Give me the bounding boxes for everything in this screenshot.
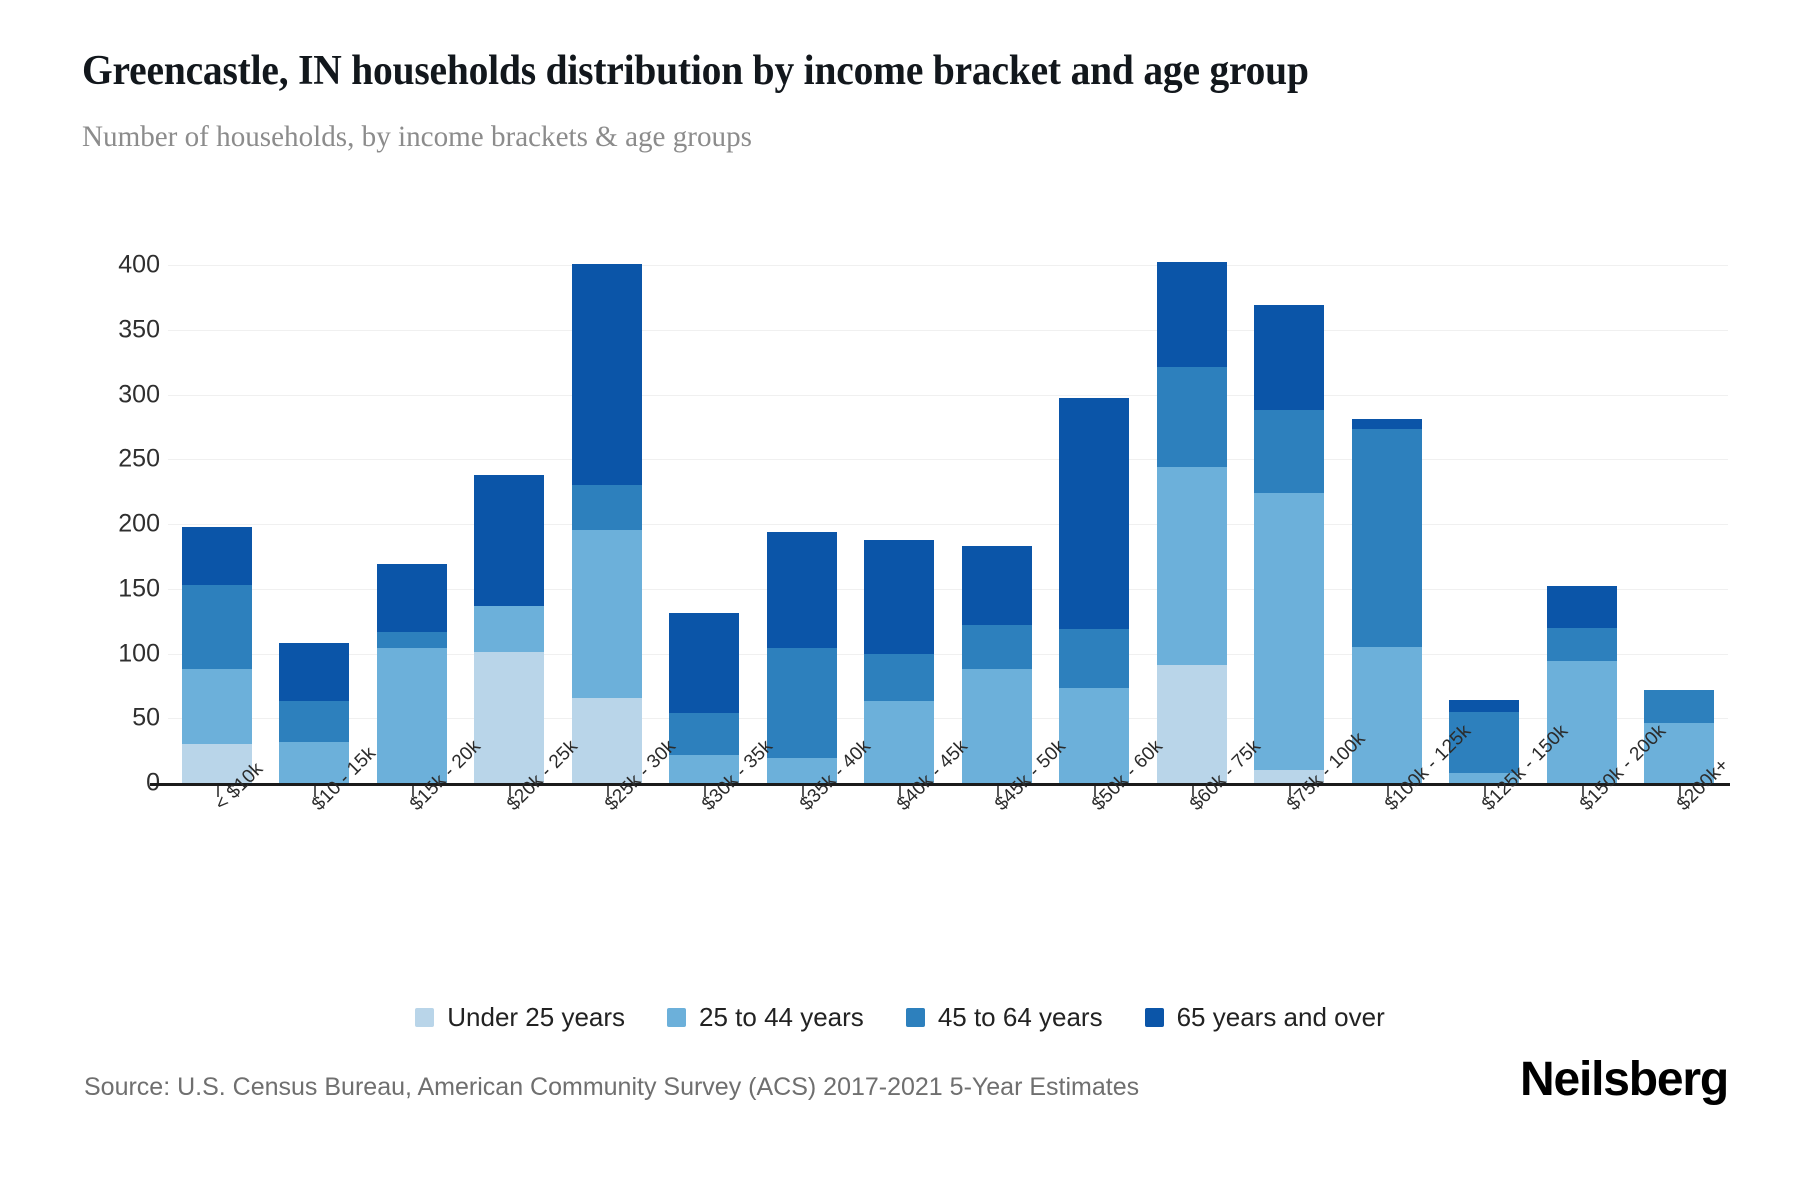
bar-stack[interactable] (669, 613, 739, 783)
legend-swatch-icon (1145, 1008, 1164, 1027)
bar-segment-3[interactable] (572, 485, 642, 530)
legend-label: Under 25 years (447, 1002, 625, 1033)
bar-segment-3[interactable] (767, 648, 837, 758)
bar-segment-4[interactable] (1157, 262, 1227, 367)
bar-stack[interactable] (1547, 586, 1617, 783)
y-tick-label: 50 (50, 704, 160, 733)
bar-stack[interactable] (474, 475, 544, 783)
bar-segment-3[interactable] (1059, 629, 1129, 689)
bars-layer (168, 265, 1728, 783)
bar-segment-2[interactable] (962, 669, 1032, 783)
bar-segment-2[interactable] (474, 606, 544, 653)
bar-segment-2[interactable] (182, 669, 252, 744)
y-tick-label: 300 (50, 380, 160, 409)
y-tick-label: 100 (50, 639, 160, 668)
source-note: Source: U.S. Census Bureau, American Com… (84, 1073, 1139, 1102)
y-tick-label: 250 (50, 445, 160, 474)
bar-segment-3[interactable] (962, 625, 1032, 669)
chart-page: Greencastle, IN households distribution … (0, 0, 1800, 1200)
chart-legend: Under 25 years25 to 44 years45 to 64 yea… (0, 1002, 1800, 1033)
y-tick-label: 350 (50, 315, 160, 344)
bar-segment-4[interactable] (962, 546, 1032, 625)
legend-item[interactable]: Under 25 years (415, 1002, 625, 1033)
bar-segment-2[interactable] (377, 648, 447, 783)
bar-segment-2[interactable] (1157, 467, 1227, 665)
bar-segment-1[interactable] (1157, 665, 1227, 783)
bar-stack[interactable] (864, 540, 934, 783)
bar-stack[interactable] (182, 527, 252, 783)
legend-label: 45 to 64 years (938, 1002, 1103, 1033)
y-tick-label: 400 (50, 251, 160, 280)
bar-segment-4[interactable] (1059, 398, 1129, 629)
bar-stack[interactable] (279, 643, 349, 783)
legend-label: 25 to 44 years (699, 1002, 864, 1033)
bar-segment-4[interactable] (572, 264, 642, 485)
bar-segment-3[interactable] (1254, 410, 1324, 493)
legend-item[interactable]: 25 to 44 years (667, 1002, 864, 1033)
y-tick-label: 200 (50, 510, 160, 539)
legend-item[interactable]: 45 to 64 years (906, 1002, 1103, 1033)
bar-stack[interactable] (767, 532, 837, 783)
bar-segment-3[interactable] (279, 701, 349, 741)
bar-segment-4[interactable] (767, 532, 837, 649)
bar-segment-4[interactable] (279, 643, 349, 701)
bar-stack[interactable] (1352, 419, 1422, 783)
bar-segment-3[interactable] (669, 713, 739, 754)
bar-segment-3[interactable] (182, 585, 252, 669)
neilsberg-logo: Neilsberg (1520, 1052, 1728, 1107)
bar-segment-3[interactable] (1352, 429, 1422, 647)
bar-segment-4[interactable] (182, 527, 252, 585)
bar-segment-4[interactable] (1449, 700, 1519, 712)
bar-segment-4[interactable] (864, 540, 934, 654)
bar-stack[interactable] (572, 264, 642, 783)
legend-swatch-icon (415, 1008, 434, 1027)
y-tick-label: 150 (50, 574, 160, 603)
bar-segment-3[interactable] (1157, 367, 1227, 467)
bar-segment-4[interactable] (474, 475, 544, 606)
bar-segment-4[interactable] (1547, 586, 1617, 627)
bar-stack[interactable] (962, 546, 1032, 783)
bar-segment-2[interactable] (1352, 647, 1422, 783)
bar-segment-1[interactable] (474, 652, 544, 783)
bar-segment-3[interactable] (1547, 628, 1617, 662)
legend-item[interactable]: 65 years and over (1145, 1002, 1385, 1033)
bar-stack[interactable] (377, 564, 447, 783)
bar-segment-4[interactable] (377, 564, 447, 631)
x-axis-labels: < $10k$10 - 15k$15k - 20k$20k - 25k$25k … (168, 800, 1728, 930)
legend-label: 65 years and over (1177, 1002, 1385, 1033)
bar-segment-2[interactable] (572, 530, 642, 697)
bar-stack[interactable] (1254, 305, 1324, 783)
bar-segment-4[interactable] (669, 613, 739, 713)
bar-stack[interactable] (1157, 262, 1227, 783)
bar-segment-4[interactable] (1352, 419, 1422, 429)
bar-stack[interactable] (1059, 398, 1129, 783)
legend-swatch-icon (906, 1008, 925, 1027)
y-tick-label: 0 (50, 769, 160, 798)
bar-segment-2[interactable] (1254, 493, 1324, 770)
bar-segment-3[interactable] (864, 654, 934, 702)
legend-swatch-icon (667, 1008, 686, 1027)
bar-segment-4[interactable] (1254, 305, 1324, 410)
bar-segment-3[interactable] (1644, 690, 1714, 724)
bar-segment-3[interactable] (377, 632, 447, 649)
